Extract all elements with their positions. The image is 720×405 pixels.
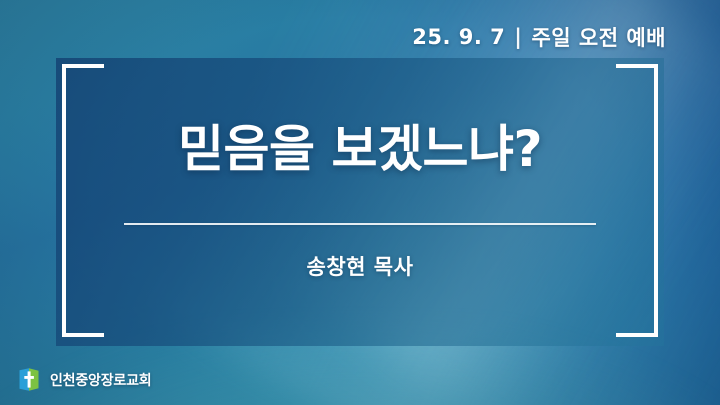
sermon-title: 믿음을 보겠느냐?	[178, 121, 542, 177]
church-logo: 인천중앙장로교회	[17, 367, 151, 392]
sermon-title-slide: 25. 9. 7 | 주일 오전 예배 믿음을 보겠느냐? 송창현 목사 인천중…	[0, 0, 720, 405]
title-block: 믿음을 보겠느냐? 송창현 목사	[62, 64, 658, 337]
speaker-name: 송창현 목사	[307, 251, 414, 281]
service-date: 25. 9. 7	[412, 25, 505, 49]
open-door-cross-icon	[17, 367, 42, 392]
header-separator: |	[514, 25, 522, 49]
church-name: 인천중앙장로교회	[50, 370, 151, 390]
service-name: 주일 오전 예배	[531, 22, 666, 52]
title-divider	[124, 223, 596, 225]
service-header: 25. 9. 7 | 주일 오전 예배	[412, 22, 666, 52]
